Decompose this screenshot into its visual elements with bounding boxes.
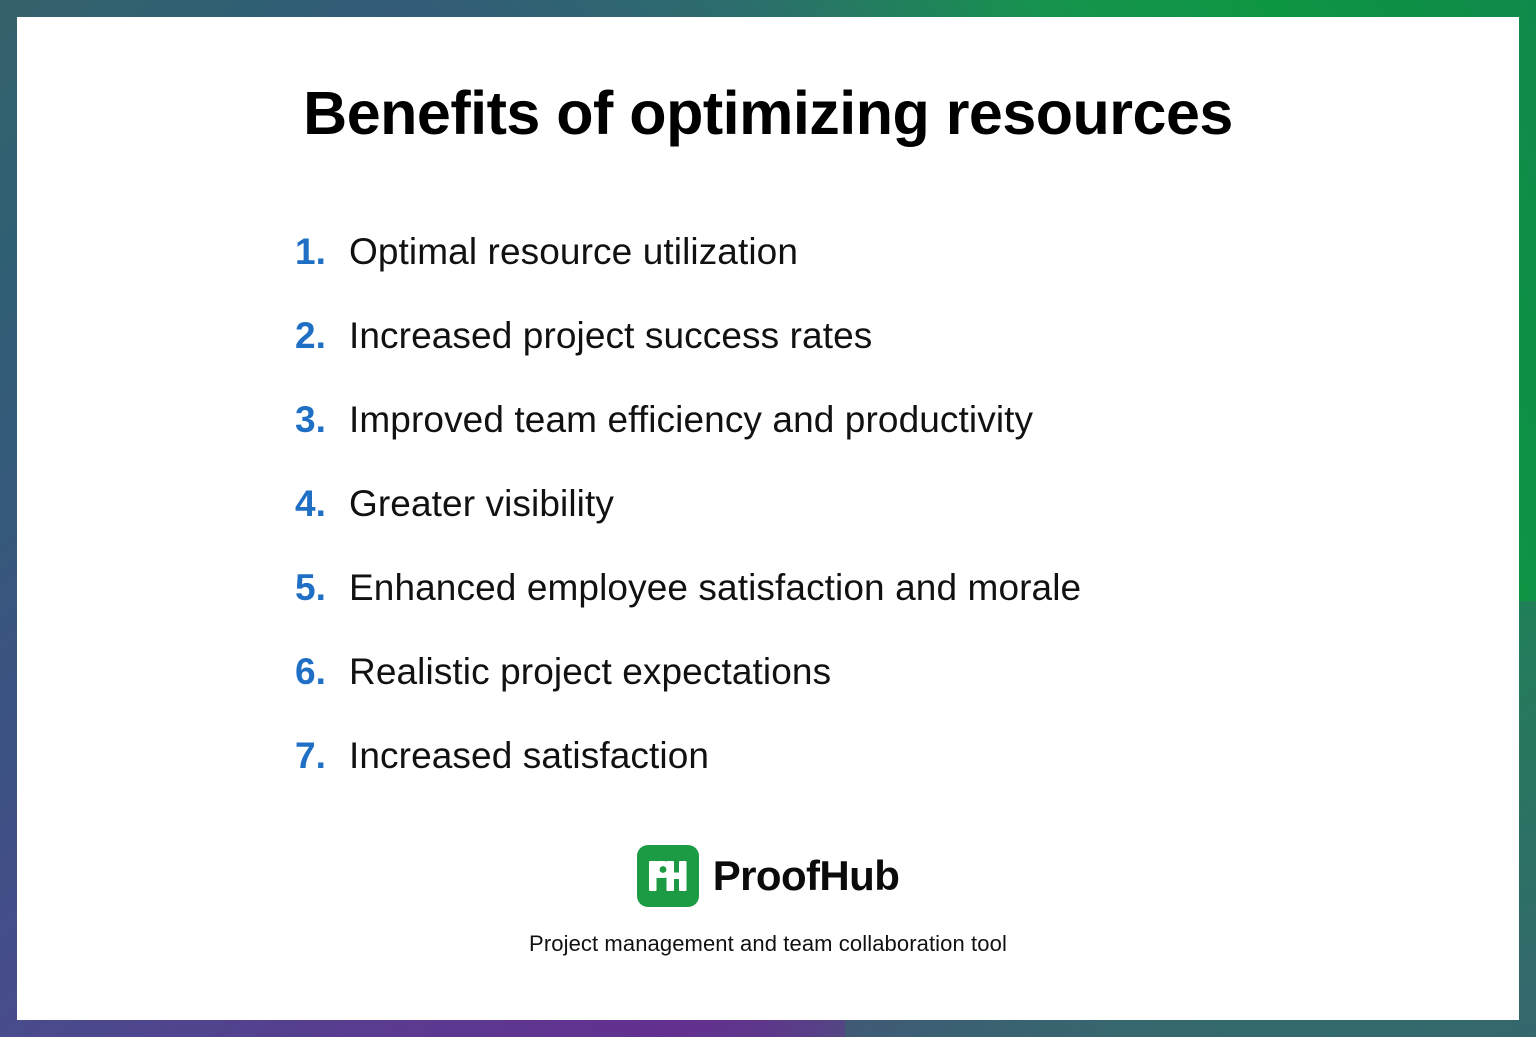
page-title: Benefits of optimizing resources	[17, 79, 1519, 147]
list-item-label: Increased satisfaction	[349, 737, 1395, 774]
list-item: 2. Increased project success rates	[295, 317, 1395, 401]
list-item: 6. Realistic project expectations	[295, 653, 1395, 737]
list-item: 5. Enhanced employee satisfaction and mo…	[295, 569, 1395, 653]
list-item-label: Enhanced employee satisfaction and moral…	[349, 569, 1395, 606]
list-item-label: Realistic project expectations	[349, 653, 1395, 690]
slide-frame: Benefits of optimizing resources 1. Opti…	[0, 0, 1536, 1037]
benefits-list: 1. Optimal resource utilization 2. Incre…	[295, 233, 1395, 821]
list-item-label: Optimal resource utilization	[349, 233, 1395, 270]
list-item-number: 5.	[295, 569, 349, 606]
proofhub-mark-icon	[637, 845, 699, 907]
list-item: 4. Greater visibility	[295, 485, 1395, 569]
list-item-number: 2.	[295, 317, 349, 354]
list-item-number: 3.	[295, 401, 349, 438]
footer: ProofHub Project management and team col…	[17, 845, 1519, 955]
list-item-label: Increased project success rates	[349, 317, 1395, 354]
brand-name: ProofHub	[713, 855, 900, 897]
list-item: 7. Increased satisfaction	[295, 737, 1395, 821]
proofhub-logo: ProofHub	[637, 845, 900, 907]
brand-tagline: Project management and team collaboratio…	[17, 933, 1519, 955]
list-item-number: 1.	[295, 233, 349, 270]
list-item-number: 6.	[295, 653, 349, 690]
list-item-number: 7.	[295, 737, 349, 774]
list-item: 1. Optimal resource utilization	[295, 233, 1395, 317]
slide-card: Benefits of optimizing resources 1. Opti…	[17, 17, 1519, 1020]
list-item-label: Improved team efficiency and productivit…	[349, 401, 1395, 438]
list-item-label: Greater visibility	[349, 485, 1395, 522]
list-item: 3. Improved team efficiency and producti…	[295, 401, 1395, 485]
list-item-number: 4.	[295, 485, 349, 522]
